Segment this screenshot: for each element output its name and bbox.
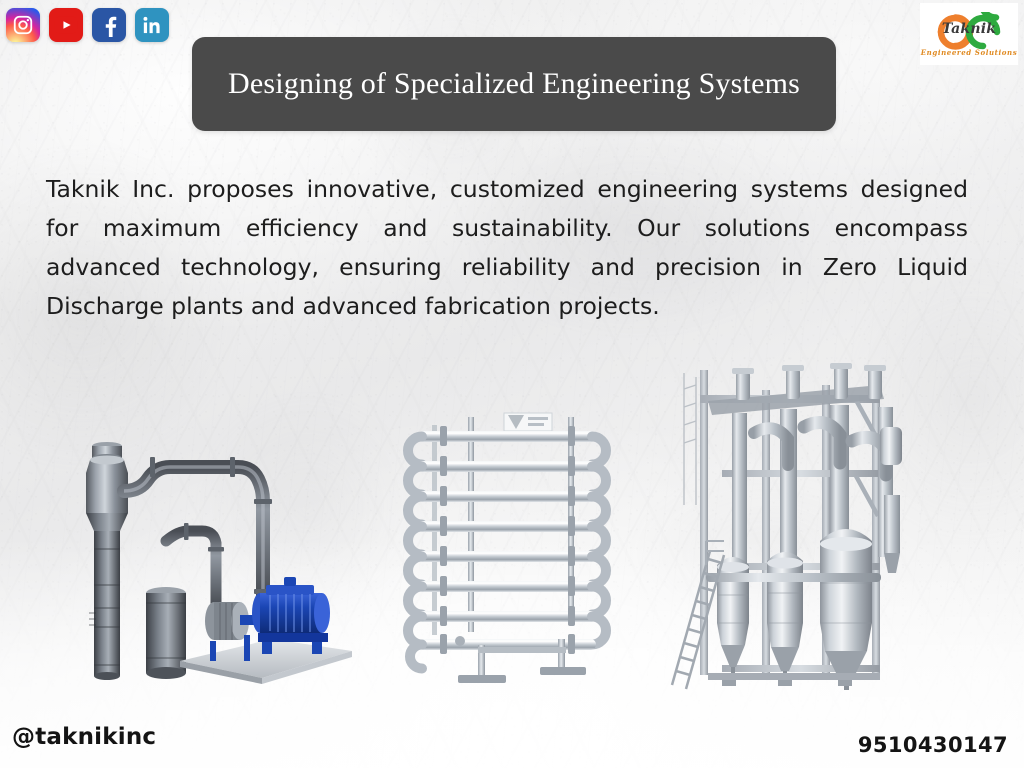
company-logo: Taknik Engineered Solutions	[920, 3, 1018, 65]
social-handle: @taknikinc	[12, 724, 156, 750]
equipment-photo-tubular-heat-exchanger	[382, 395, 632, 690]
social-links-bar	[6, 8, 169, 42]
logo-wordmark: Taknik	[923, 21, 1015, 37]
page-title: Designing of Specialized Engineering Sys…	[202, 66, 826, 103]
logo-mark: Taknik	[923, 12, 1015, 52]
body-paragraph: Taknik Inc. proposes innovative, customi…	[46, 170, 968, 326]
poster-canvas: Taknik Engineered Solutions Designing of…	[0, 0, 1024, 768]
facebook-icon[interactable]	[92, 8, 126, 42]
title-banner: Designing of Specialized Engineering Sys…	[192, 37, 836, 131]
equipment-photo-vacuum-ejector-pump-skid	[62, 413, 362, 695]
contact-phone-number: 9510430147	[858, 733, 1008, 757]
equipment-photo-multi-effect-evaporator	[662, 355, 924, 690]
equipment-photo-row	[0, 355, 1024, 700]
instagram-icon[interactable]	[6, 8, 40, 42]
linkedin-icon[interactable]	[135, 8, 169, 42]
youtube-icon[interactable]	[49, 8, 83, 42]
